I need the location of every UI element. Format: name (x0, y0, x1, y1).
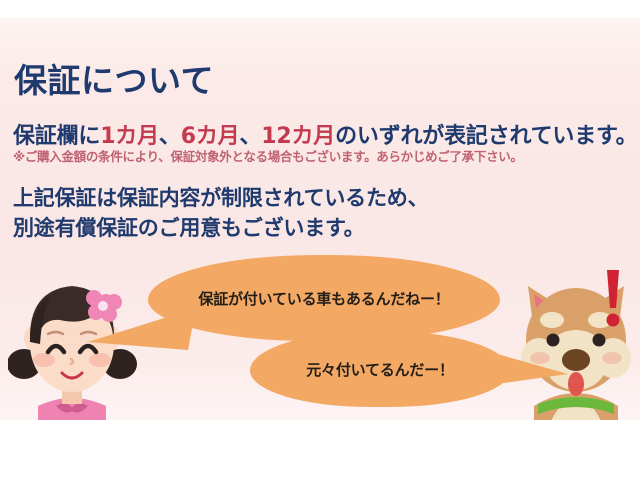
body-line-1: 上記保証は保証内容が制限されているため、 (13, 182, 428, 212)
pink-panel: 保証について 保証欄に1カ月、6カ月、12カ月のいずれが表記されています。 ※ご… (0, 18, 640, 420)
speech-bubble-girl: 保証が付いている車もあるんだねー！ (148, 255, 500, 341)
warranty-banner: 保証について 保証欄に1カ月、6カ月、12カ月のいずれが表記されています。 ※ご… (0, 0, 640, 480)
speech-bubble-girl-text: 保証が付いている車もあるんだねー！ (198, 288, 449, 309)
dog-blush-right (602, 352, 622, 364)
page-title: 保証について (14, 54, 214, 102)
bubble-tail-girl (88, 298, 198, 354)
dog-eye-right (593, 334, 606, 347)
body-line-2: 別途有償保証のご用意もございます。 (13, 212, 365, 242)
disclaimer-note: ※ご購入金額の条件により、保証対象外となる場合もございます。あらかじめご了承下さ… (13, 146, 523, 165)
girl-blush-left (33, 353, 55, 367)
bubble-tail-dog (458, 340, 568, 392)
exclamation-mark-icon (598, 268, 628, 330)
speech-bubble-dog-text: 元々付いてるんだー！ (306, 359, 454, 380)
dog-brow-patch-left (540, 312, 564, 328)
girl-blush-right (89, 353, 111, 367)
dog-mouth (568, 372, 584, 396)
